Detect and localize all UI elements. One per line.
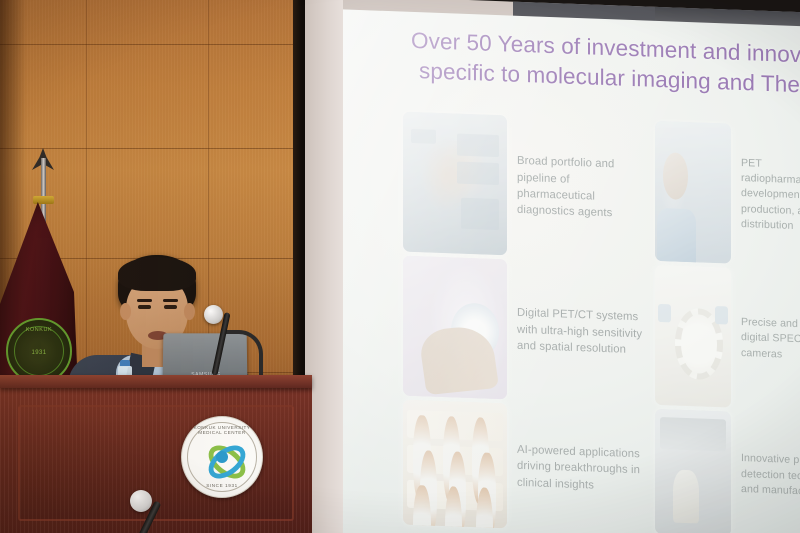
emblem-bottom-text: SINCE 1931 — [182, 483, 262, 488]
slide-caption-5: AI-powered applications driving breakthr… — [517, 404, 645, 533]
projection-screen: Over 50 Years of investment and innovati… — [305, 0, 800, 533]
emblem-top-text: KONKUK UNIVERSITY MEDICAL CENTER — [182, 425, 262, 435]
slide-content-grid: Broad portfolio and pipeline of pharmace… — [403, 112, 800, 533]
presenter-eye-left — [138, 305, 151, 309]
photon-detector-manufacturing-photo — [655, 409, 731, 533]
presenter-eyebrow-right — [163, 299, 178, 302]
floor-microphone-windscreen — [130, 490, 152, 512]
slide-caption-1: Broad portfolio and pipeline of pharmace… — [517, 116, 645, 261]
presentation-photo-scene: Over 50 Years of investment and innovati… — [0, 0, 800, 533]
lab-control-room-photo — [403, 112, 507, 256]
projected-slide: Over 50 Years of investment and innovati… — [343, 9, 800, 533]
spect-ct-camera-photo — [655, 265, 731, 408]
slide-caption-6: Innovative photon detection technologies… — [741, 412, 800, 533]
konkuk-logo-icon — [202, 437, 242, 477]
podium-emblem: KONKUK UNIVERSITY MEDICAL CENTER SINCE 1… — [181, 416, 263, 498]
flag-collar — [33, 196, 54, 204]
microphone-windscreen — [204, 305, 223, 324]
presenter-eye-right — [164, 305, 177, 309]
presenter-ear-left — [120, 303, 131, 320]
ai-medical-scan-photo — [403, 400, 507, 529]
slide-caption-4: Precise and fast digital SPECT/CT camera… — [741, 268, 800, 412]
scientist-laboratory-photo — [655, 121, 731, 264]
presenter-eyebrow-left — [137, 299, 152, 302]
pet-ct-scanner-photo — [403, 256, 507, 400]
slide-title: Over 50 Years of investment and innovati… — [411, 26, 800, 104]
slide-caption-3: Digital PET/CT systems with ultra-high s… — [517, 260, 645, 405]
presenter-hair-front — [118, 257, 196, 291]
presenter-ear-right — [184, 303, 195, 320]
podium-top-edge — [0, 375, 312, 388]
slide-caption-2: PET radiopharmaceuticals development, pr… — [741, 124, 800, 268]
